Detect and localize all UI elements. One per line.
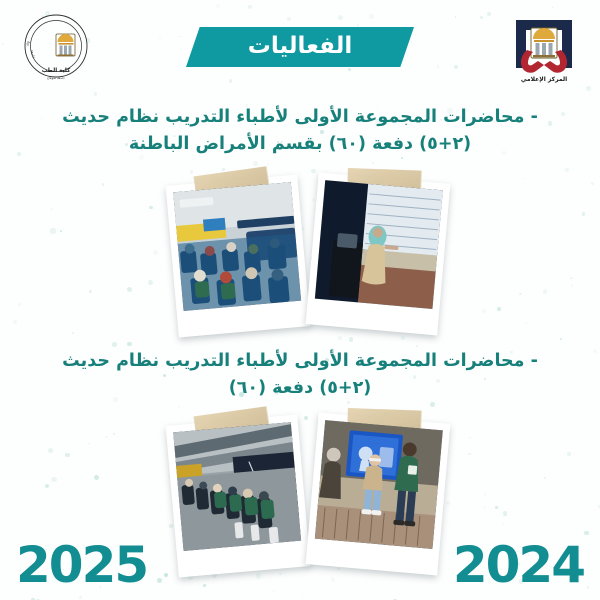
svg-text:جامعة سوهاج: جامعة سوهاج [47,76,65,80]
photo-stage-speakers [315,420,443,549]
poster-canvas: Faculty of Medicine · Sohag University ج… [0,0,600,600]
title-banner: الفعاليات [186,27,414,67]
polaroid-photo-2 [306,173,451,336]
headline-section-top: - محاضرات المجموعة الأولى لأطباء التدريب… [42,104,558,158]
faculty-seal-icon: Faculty of Medicine · Sohag University ج… [13,10,99,86]
media-center-logo: المركز الإعلامي [498,8,590,88]
photo-presenter-at-screen [315,180,443,309]
photo-audience-lecture-hall [173,182,301,311]
svg-text:كلية الطب: كلية الطب [42,67,71,74]
year-label-right: 2024 [453,540,584,590]
photo-3-artwork [173,422,301,551]
svg-text:Faculty of Medicine · Sohag Un: Faculty of Medicine · Sohag University [13,10,31,46]
photo-attendees-rows [173,422,301,551]
polaroid-photo-1 [166,175,311,338]
headline-section-bottom: - محاضرات المجموعة الأولى لأطباء التدريب… [42,348,558,402]
photo-2-artwork [315,180,443,309]
svg-text:جامعة سوهاج: جامعة سوهاج [13,10,36,59]
banner-title-text: الفعاليات [248,35,352,60]
photo-1-artwork [173,182,301,311]
polaroid-photo-3 [166,415,311,578]
media-center-icon: المركز الإعلامي [504,10,584,86]
year-label-left: 2025 [16,540,147,590]
svg-text:المركز الإعلامي: المركز الإعلامي [521,76,567,83]
faculty-of-medicine-seal: Faculty of Medicine · Sohag University ج… [10,8,102,88]
polaroid-photo-4 [306,413,451,576]
photo-4-artwork [315,420,443,549]
